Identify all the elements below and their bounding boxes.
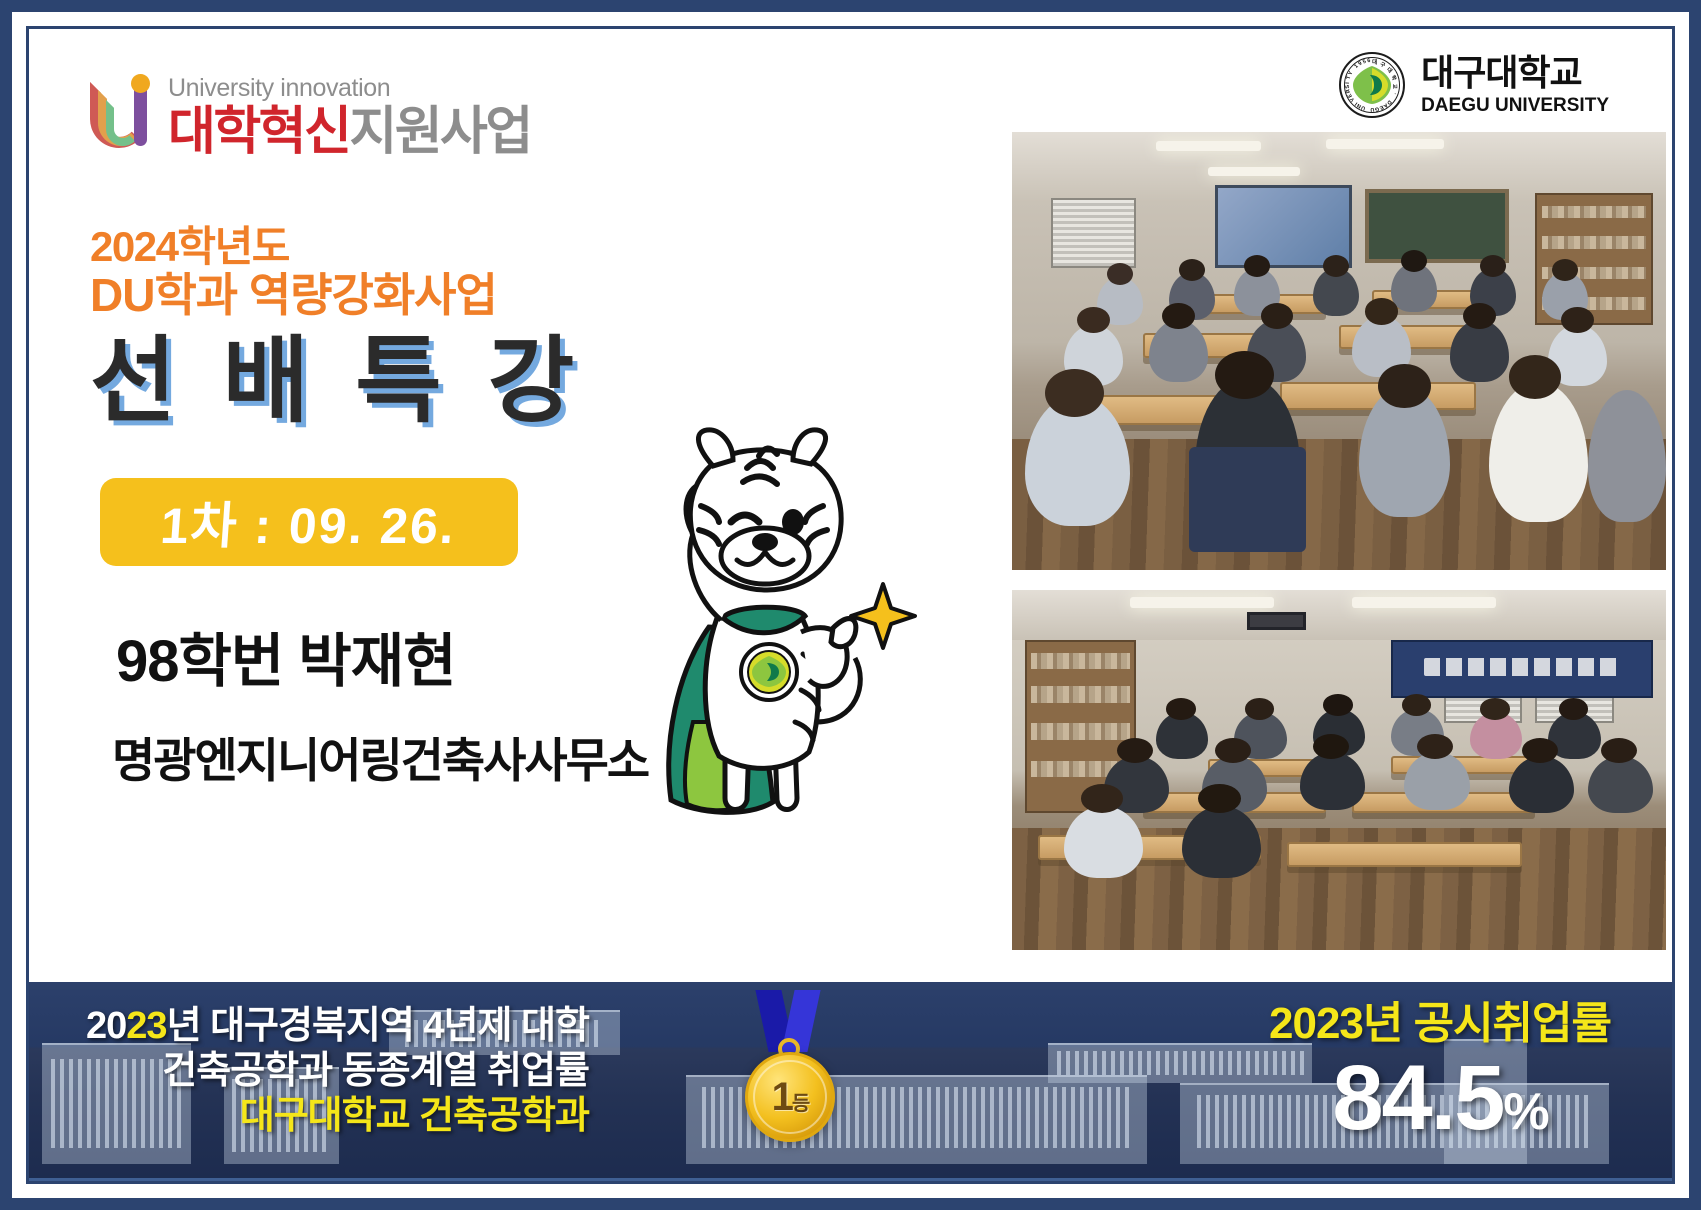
program-name-heading: DU학과 역량강화사업 (90, 270, 497, 321)
ui-logo-mark-icon (90, 74, 154, 160)
tiger-mascot-illustration (597, 422, 917, 832)
university-name-english: DAEGU UNIVERSITY (1421, 96, 1609, 115)
session-date-label: 1차 : 09. 26. (159, 486, 459, 558)
employment-rate-block: 2023년 공시취업률 84.5% (1269, 1000, 1611, 1144)
academic-year-heading: 2024학년도 (90, 224, 289, 270)
program-logo-korean-red: 대학혁신 (168, 103, 349, 161)
speaker-name: 98학번 박재현 (116, 614, 455, 698)
event-title: 선 배 특 강 (90, 332, 584, 431)
emblem-ring-text: 대 구 대 학 교 · DAEGU UNIVERSITY 1956 (1339, 52, 1405, 118)
session-date-badge: 1차 : 09. 26. (100, 478, 518, 566)
university-name-korean: 대구대학교 (1421, 55, 1609, 91)
daegu-university-logo: 대 구 대 학 교 · DAEGU UNIVERSITY 1956 대구대학교 … (1339, 52, 1609, 118)
statistics-banner: 2023년 대구경북지역 4년제 대학 건축공학과 동종계열 취업률 대구대학교… (26, 982, 1675, 1184)
program-logo-english: University innovation (168, 76, 531, 101)
employment-rank-text: 2023년 대구경북지역 4년제 대학 건축공학과 동종계열 취업률 대구대학교… (86, 1004, 589, 1138)
university-innovation-logo: University innovation 대학혁신지원사업 (90, 74, 531, 160)
employment-rate-title: 2023년 공시취업률 (1269, 1000, 1611, 1048)
university-emblem-icon: 대 구 대 학 교 · DAEGU UNIVERSITY 1956 (1339, 52, 1405, 118)
banner-bottom-rule (26, 1178, 1675, 1184)
first-place-medal-icon: 1등 (726, 990, 846, 1160)
medal-rank-label: 1등 (772, 1075, 809, 1120)
rank-line-1: 2023년 대구경북지역 4년제 대학 (86, 1004, 589, 1049)
speaker-organization: 명광엔지니어링건축사사무소 (112, 722, 648, 791)
program-logo-korean-gray: 지원사업 (349, 103, 530, 161)
lecture-photo-top (1012, 132, 1666, 570)
employment-rate-value: 84.5% (1269, 1052, 1611, 1144)
rank-line-2: 건축공학과 동종계열 취업률 (86, 1049, 589, 1094)
poster-root: University innovation 대학혁신지원사업 대 구 대 학 교… (0, 0, 1701, 1210)
rank-line-3: 대구대학교 건축공학과 (86, 1094, 589, 1139)
lecture-photo-bottom (1012, 590, 1666, 950)
